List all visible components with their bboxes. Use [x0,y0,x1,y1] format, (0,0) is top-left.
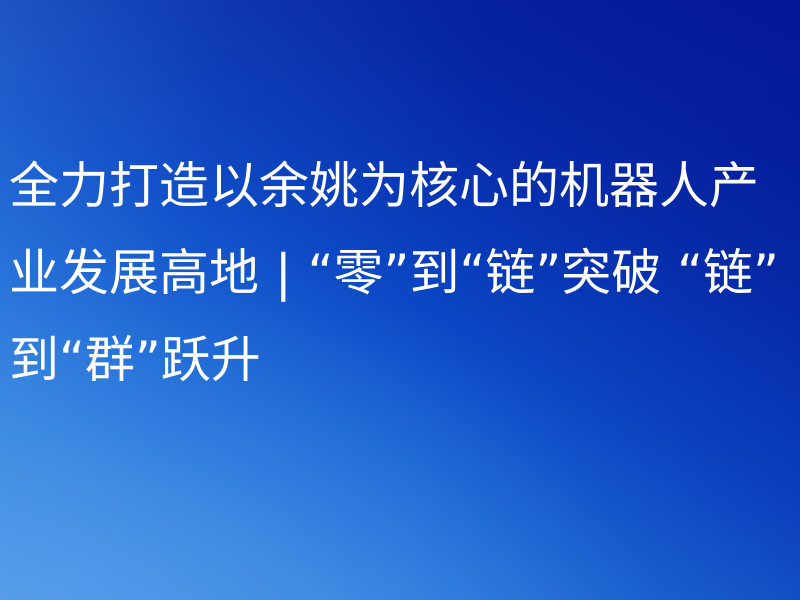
title-card-background: 全力打造以余姚为核心的机器人产业发展高地 | “零”到“链”突破 “链”到“群”… [0,0,800,600]
headline-container: 全力打造以余姚为核心的机器人产业发展高地 | “零”到“链”突破 “链”到“群”… [0,0,800,600]
page-title: 全力打造以余姚为核心的机器人产业发展高地 | “零”到“链”突破 “链”到“群”… [9,143,800,404]
